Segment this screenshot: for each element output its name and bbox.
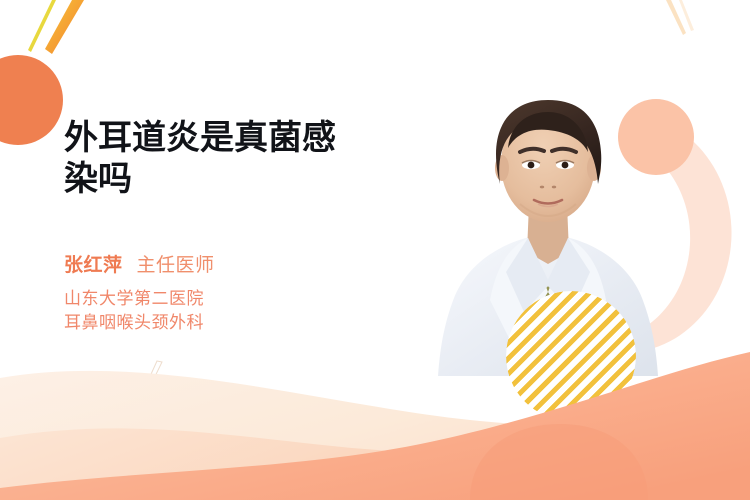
page-title: 外耳道炎是真菌感 染吗 (64, 118, 424, 200)
doctor-hospital: 山东大学第二医院 (64, 287, 215, 311)
doctor-department: 耳鼻咽喉头颈外科 (64, 311, 215, 335)
video-cover-card: 外耳道炎是真菌感 染吗 张红萍 主任医师 山东大学第二医院 耳鼻咽喉头颈外科 (0, 0, 750, 500)
doctor-info-block: 张红萍 主任医师 山东大学第二医院 耳鼻咽喉头颈外科 (64, 250, 215, 335)
doctor-name-row: 张红萍 主任医师 (64, 250, 215, 277)
doctor-professional-title: 主任医师 (137, 250, 215, 277)
title-block: 外耳道炎是真菌感 染吗 (64, 118, 424, 200)
doctor-name: 张红萍 (64, 250, 123, 277)
